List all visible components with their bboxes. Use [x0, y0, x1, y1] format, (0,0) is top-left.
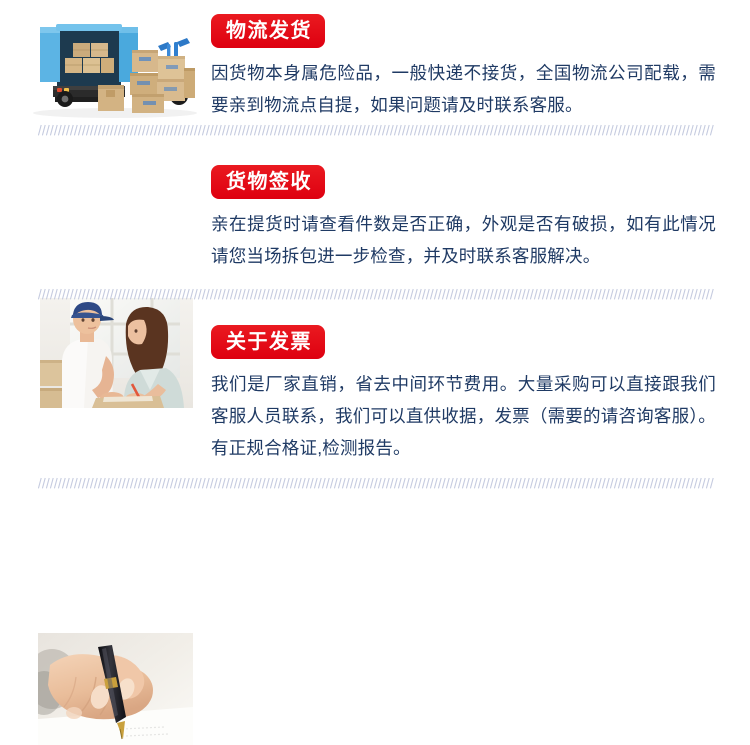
truck-loading-boxes-illustration [27, 16, 205, 120]
paragraph-about-invoice: 我们是厂家直销，省去中间环节费用。大量采购可以直接跟我们客服人员联系，我们可以直… [211, 368, 716, 464]
zigzag-divider [38, 477, 714, 490]
section-goods-receipt: 货物签收 亲在提货时请查看件数是否正确，外观是否有破损，如有此情况请您当场拆包进… [0, 131, 750, 295]
paragraph-goods-receipt: 亲在提货时请查看件数是否正确，外观是否有破损，如有此情况请您当场拆包进一步检查，… [211, 208, 716, 272]
paragraph-logistics-shipping: 因货物本身属危险品，一般快递不接货，全国物流公司配载，需要亲到物流点自提，如果问… [211, 57, 716, 121]
info-panel-page: 物流发货 因货物本身属危险品，一般快递不接货，全国物流公司配载，需要亲到物流点自… [0, 0, 750, 514]
hand-writing-with-fountain-pen-photo [38, 633, 193, 745]
copy-block-about-invoice: 关于发票 我们是厂家直销，省去中间环节费用。大量采购可以直接跟我们客服人员联系，… [211, 325, 716, 464]
badge-goods-receipt: 货物签收 [211, 165, 325, 199]
section-about-invoice: 关于发票 我们是厂家直销，省去中间环节费用。大量采购可以直接跟我们客服人员联系，… [0, 296, 750, 483]
copy-block-goods-receipt: 货物签收 亲在提货时请查看件数是否正确，外观是否有破损，如有此情况请您当场拆包进… [211, 165, 716, 272]
badge-logistics-shipping: 物流发货 [211, 14, 325, 48]
section-logistics-shipping: 物流发货 因货物本身属危险品，一般快递不接货，全国物流公司配载，需要亲到物流点自… [0, 0, 750, 130]
badge-about-invoice: 关于发票 [211, 325, 325, 359]
copy-block-logistics: 物流发货 因货物本身属危险品，一般快递不接货，全国物流公司配载，需要亲到物流点自… [211, 14, 716, 121]
